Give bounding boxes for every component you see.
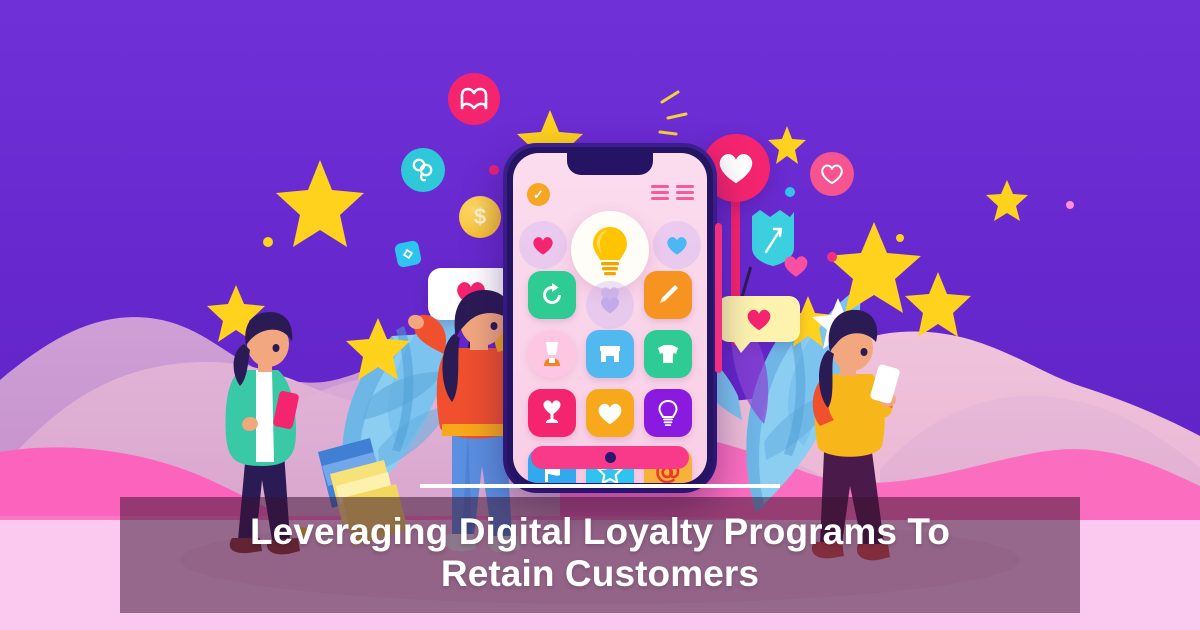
page-title-line-1: Leveraging Digital Loyalty Programs To [250,511,950,553]
app-trophy-heart-icon[interactable] [528,389,576,437]
pencil-icon [655,282,681,308]
app-shirt-icon[interactable] [644,330,692,378]
app-store-icon[interactable] [586,330,634,378]
smartphone-mockup: ✓ [503,143,717,493]
refresh-icon [539,282,565,308]
app-refresh-icon[interactable] [528,271,576,319]
heart-icon [599,285,621,305]
store-icon [597,342,623,366]
hero-banner: $ [0,0,1200,630]
phone-side-button[interactable] [715,223,722,373]
home-indicator[interactable] [531,446,689,469]
home-button-dot [605,452,616,463]
trophy-heart-icon [539,399,565,427]
title-divider-rule [420,484,780,488]
lightbulb-icon [588,224,632,276]
heart-chip-right [653,221,701,269]
shirt-icon [655,342,681,366]
menu-lines-icon[interactable] [651,185,694,200]
phone-notch [567,153,653,175]
app-heart-icon[interactable] [586,389,634,437]
heart-chip-left [519,221,567,269]
heart-icon [665,235,689,256]
app-heart-ghost-icon [586,271,634,319]
title-overlay: Leveraging Digital Loyalty Programs To R… [120,497,1080,613]
app-medal-icon[interactable] [528,330,576,378]
heart-icon [531,235,555,256]
heart-icon [596,401,624,426]
lightbulb-outline-icon [656,399,680,427]
phone-screen: ✓ [513,153,707,483]
check-icon: ✓ [527,183,550,206]
app-lightbulb-icon[interactable] [644,389,692,437]
page-title-line-2: Retain Customers [441,553,759,595]
app-pencil-icon[interactable] [644,271,692,319]
medal-icon [538,339,566,369]
